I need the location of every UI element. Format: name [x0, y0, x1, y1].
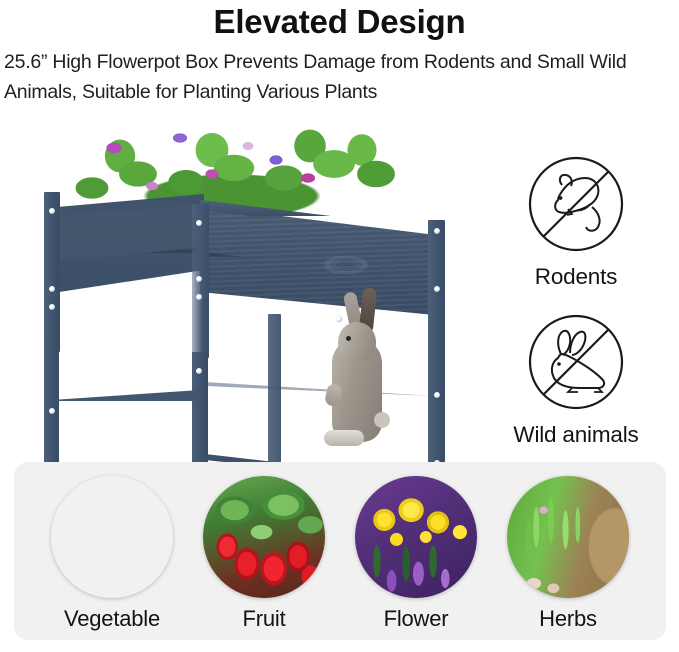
screw [434, 392, 440, 398]
category-item-flower[interactable]: Flower [338, 476, 494, 634]
protection-caption-rodents: Rodents [476, 262, 676, 292]
corner-post-left [44, 192, 60, 352]
header: Elevated Design 25.6” High Flowerpot Box… [0, 0, 679, 107]
category-item-herbs[interactable]: Herbs [490, 476, 646, 634]
protection-item-rodents: Rodents [476, 152, 676, 292]
screw [434, 228, 440, 234]
category-item-vegetable[interactable]: Vegetable [34, 476, 190, 634]
plant-category-panel: Vegetable Fruit Flower Herbs [14, 462, 666, 640]
rabbit-tail [374, 412, 390, 428]
page-title: Elevated Design [0, 0, 679, 42]
screw [196, 294, 202, 300]
strawberries-photo [203, 476, 325, 598]
screw [49, 208, 55, 214]
daffodils-photo [355, 476, 477, 598]
category-label-vegetable: Vegetable [34, 604, 190, 634]
protection-caption-wild-animals: Wild animals [476, 420, 676, 450]
rabbit-foot [324, 430, 364, 446]
category-label-herbs: Herbs [490, 604, 646, 634]
category-image-fruit [203, 476, 325, 598]
screw [49, 408, 55, 414]
rabbit-head [338, 322, 376, 362]
screw [196, 276, 202, 282]
no-rabbit-icon [524, 310, 628, 414]
category-image-herbs [507, 476, 629, 598]
herb-roots-photo [507, 476, 629, 598]
rabbit-illustration [316, 294, 402, 454]
category-label-flower: Flower [338, 604, 494, 634]
category-label-fruit: Fruit [186, 604, 342, 634]
protection-item-wild-animals: Wild animals [476, 310, 676, 450]
cross-brace-upper-left [52, 390, 200, 401]
page-subtitle: 25.6” High Flowerpot Box Prevents Damage… [0, 42, 679, 107]
category-item-fruit[interactable]: Fruit [186, 476, 342, 634]
bok-choy-photo [51, 476, 173, 598]
screw [196, 220, 202, 226]
screw [49, 286, 55, 292]
category-image-vegetable [51, 476, 173, 598]
category-image-flower [355, 476, 477, 598]
no-rodent-icon [524, 152, 628, 256]
planted-foliage [62, 116, 402, 212]
screw [434, 286, 440, 292]
rabbit-eye [346, 336, 351, 341]
screw [196, 368, 202, 374]
screw [49, 304, 55, 310]
